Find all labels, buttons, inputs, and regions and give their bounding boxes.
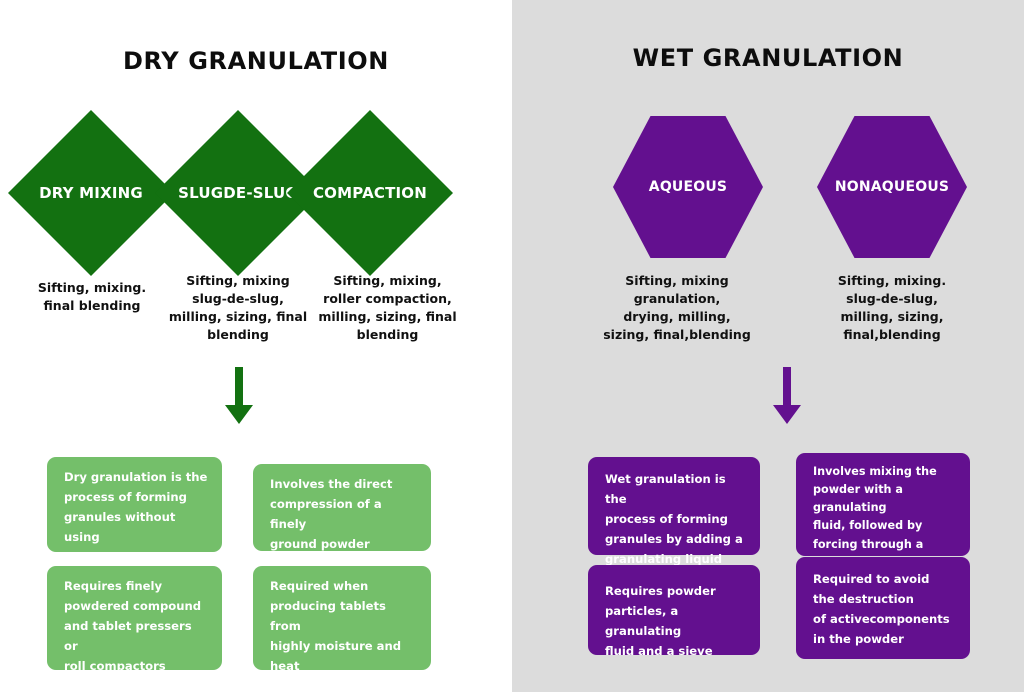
info-box-wet-definition: Wet granulation is the process of formin… [588,457,760,555]
wet-stage-captions: Sifting, mixing granulation, drying, mil… [512,272,1024,362]
dry-stage-captions: Sifting, mixing. final blending Sifting,… [0,272,512,362]
wet-granulation-panel: WET GRANULATION AQUEOUS NONAQUEOUS Sifti… [512,0,1024,692]
stage-shape-dry-mixing[interactable]: DRY MIXING [8,110,174,276]
stage-shape-nonaqueous[interactable]: NONAQUEOUS [817,116,967,258]
down-arrow-icon [770,367,804,427]
info-box-dry-requires: Requires finely powdered compound and ta… [47,566,222,670]
dry-info-boxes: Dry granulation is the process of formin… [0,453,512,673]
stage-caption-dry-mixing: Sifting, mixing. final blending [12,279,172,315]
stage-label: COMPACTION [313,184,427,202]
stage-caption-aqueous: Sifting, mixing granulation, drying, mil… [582,272,772,345]
info-box-wet-requires: Requires powder particles, a granulating… [588,565,760,655]
infographic-canvas: DRY GRANULATION DRY MIXING SLUGDE-SLUG C… [0,0,1024,692]
stage-label: SLUGDE-SLUG [178,184,298,202]
wet-granulation-title: WET GRANULATION [512,44,1024,72]
stage-shape-aqueous[interactable]: AQUEOUS [613,116,763,258]
info-box-wet-required: Required to avoid the destruction of act… [796,557,970,659]
info-box-dry-definition: Dry granulation is the process of formin… [47,457,222,552]
dry-stage-shapes: DRY MIXING SLUGDE-SLUG COMPACTION [0,110,512,275]
down-arrow-icon [222,367,256,427]
stage-shape-compaction[interactable]: COMPACTION [287,110,453,276]
wet-info-boxes: Wet granulation is the process of formin… [512,453,1024,673]
stage-caption-slugde-slug: Sifting, mixing slug-de-slug, milling, s… [158,272,318,345]
stage-label: NONAQUEOUS [835,179,949,195]
wet-stage-shapes: AQUEOUS NONAQUEOUS [512,110,1024,275]
info-box-wet-mixing: Involves mixing the powder with a granul… [796,453,970,556]
stage-caption-nonaqueous: Sifting, mixing. slug-de-slug, milling, … [802,272,982,345]
info-box-dry-required: Required when producing tablets from hig… [253,566,431,670]
dry-granulation-title: DRY GRANULATION [0,47,512,75]
stage-label: DRY MIXING [39,184,143,202]
stage-label: AQUEOUS [649,179,727,195]
dry-granulation-panel: DRY GRANULATION DRY MIXING SLUGDE-SLUG C… [0,0,512,692]
stage-caption-compaction: Sifting, mixing, roller compaction, mill… [300,272,475,345]
info-box-dry-compression: Involves the direct compression of a fin… [253,464,431,551]
